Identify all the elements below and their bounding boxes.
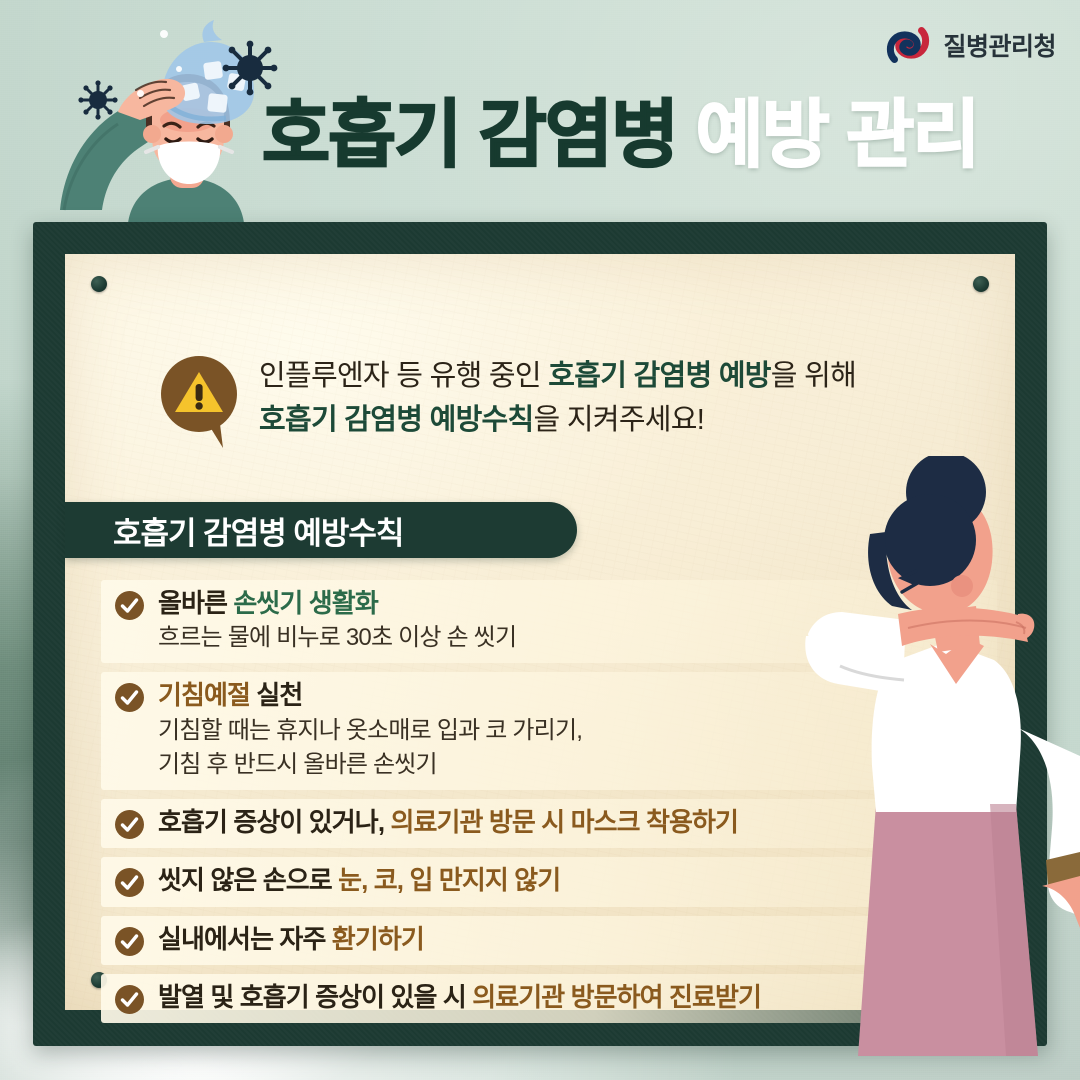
check-circle-icon <box>115 868 144 897</box>
rule-title-part: 눈, 코, 입 만지지 않기 <box>338 865 560 895</box>
notice-line2-b: 을 지켜주세요! <box>534 404 705 436</box>
rule-item: 씻지 않은 손으로 눈, 코, 입 만지지 않기 <box>101 857 997 906</box>
rule-title-part: 손씻기 생활화 <box>233 588 377 618</box>
notice-line-2: 호흡기 감염병 예방수칙을 지켜주세요! <box>259 398 856 442</box>
notice-text: 인플루엔자 등 유행 중인 호흡기 감염병 예방을 위해 호흡기 감염병 예방수… <box>259 354 856 442</box>
notice-line1-a: 인플루엔자 등 유행 중인 <box>259 360 548 392</box>
rules-list: 올바른 손씻기 생활화흐르는 물에 비누로 30초 이상 손 씻기기침예절 실천… <box>101 580 997 1032</box>
page-title-light: 예방 관리 <box>696 93 979 176</box>
rule-title-part: 의료기관 방문 시 마스크 착용하기 <box>390 807 738 837</box>
rule-title: 올바른 손씻기 생활화 <box>158 587 981 620</box>
rule-subtext: 흐르는 물에 비누로 30초 이상 손 씻기 <box>158 622 981 654</box>
rule-title-part: 올바른 <box>158 588 233 618</box>
rule-item: 실내에서는 자주 환기하기 <box>101 916 997 965</box>
rule-title-part: 실내에서는 자주 <box>158 924 332 954</box>
rule-subtext: 기침할 때는 휴지나 옷소매로 입과 코 가리기, <box>158 715 981 747</box>
rule-title: 실내에서는 자주 환기하기 <box>158 923 981 956</box>
rule-title: 발열 및 호흡기 증상이 있을 시 의료기관 방문하여 진료받기 <box>158 981 981 1014</box>
check-circle-icon <box>115 591 144 620</box>
rule-body: 호흡기 증상이 있거나, 의료기관 방문 시 마스크 착용하기 <box>158 806 981 839</box>
rule-title: 씻지 않은 손으로 눈, 코, 입 만지지 않기 <box>158 864 981 897</box>
rule-item: 기침예절 실천기침할 때는 휴지나 옷소매로 입과 코 가리기,기침 후 반드시… <box>101 672 997 790</box>
page-title: 호흡기 감염병 예방 관리 <box>262 98 979 172</box>
virus-particle-icon <box>222 40 278 96</box>
notice-line1-c: 을 위해 <box>771 360 856 392</box>
warning-speech-bubble-icon <box>161 356 237 453</box>
notice-line-1: 인플루엔자 등 유행 중인 호흡기 감염병 예방을 위해 <box>259 354 856 398</box>
paper-panel: 인플루엔자 등 유행 중인 호흡기 감염병 예방을 위해 호흡기 감염병 예방수… <box>65 254 1015 1010</box>
snow-dot <box>176 66 182 72</box>
rule-body: 기침예절 실천기침할 때는 휴지나 옷소매로 입과 코 가리기,기침 후 반드시… <box>158 679 981 781</box>
rule-body: 실내에서는 자주 환기하기 <box>158 923 981 956</box>
notice-block: 인플루엔자 등 유행 중인 호흡기 감염병 예방을 위해 호흡기 감염병 예방수… <box>161 354 955 453</box>
rule-title-part: 실천 <box>256 680 302 710</box>
notice-line1-emphasis: 호흡기 감염병 예방 <box>548 360 771 392</box>
taegeuk-logo-icon <box>885 22 931 68</box>
rule-title-part: 의료기관 방문하여 진료받기 <box>472 982 761 1012</box>
check-circle-icon <box>115 683 144 712</box>
section-tab: 호흡기 감염병 예방수칙 <box>65 502 577 558</box>
snow-dot <box>160 30 168 38</box>
agency-name: 질병관리청 <box>943 27 1056 63</box>
rule-title-part: 발열 및 호흡기 증상이 있을 시 <box>158 982 472 1012</box>
snow-dot <box>137 90 144 97</box>
rule-item: 호흡기 증상이 있거나, 의료기관 방문 시 마스크 착용하기 <box>101 799 997 848</box>
page-title-dark: 호흡기 감염병 <box>262 93 677 176</box>
rule-title-part: 환기하기 <box>332 924 424 954</box>
virus-particle-small-icon <box>78 80 118 120</box>
rule-item: 발열 및 호흡기 증상이 있을 시 의료기관 방문하여 진료받기 <box>101 974 997 1023</box>
rule-title-part: 씻지 않은 손으로 <box>158 865 338 895</box>
notice-line2-emphasis: 호흡기 감염병 예방수칙 <box>259 404 534 436</box>
agency-logo-block: 질병관리청 <box>885 22 1056 68</box>
notice-board: 인플루엔자 등 유행 중인 호흡기 감염병 예방을 위해 호흡기 감염병 예방수… <box>33 222 1047 1046</box>
rule-body: 발열 및 호흡기 증상이 있을 시 의료기관 방문하여 진료받기 <box>158 981 981 1014</box>
rule-item: 올바른 손씻기 생활화흐르는 물에 비누로 30초 이상 손 씻기 <box>101 580 997 663</box>
rule-title: 기침예절 실천 <box>158 679 981 712</box>
pin-top-right <box>973 276 989 292</box>
section-tab-label: 호흡기 감염병 예방수칙 <box>113 508 403 553</box>
rule-subtext: 기침 후 반드시 올바른 손씻기 <box>158 749 981 781</box>
pin-top-left <box>91 276 107 292</box>
rule-body: 올바른 손씻기 생활화흐르는 물에 비누로 30초 이상 손 씻기 <box>158 587 981 654</box>
rule-title: 호흡기 증상이 있거나, 의료기관 방문 시 마스크 착용하기 <box>158 806 981 839</box>
rule-body: 씻지 않은 손으로 눈, 코, 입 만지지 않기 <box>158 864 981 897</box>
rule-title-part: 기침예절 <box>158 680 256 710</box>
infographic-poster: 질병관리청 <box>0 0 1080 1080</box>
check-circle-icon <box>115 927 144 956</box>
rule-title-part: 호흡기 증상이 있거나, <box>158 807 390 837</box>
check-circle-icon <box>115 810 144 839</box>
check-circle-icon <box>115 985 144 1014</box>
